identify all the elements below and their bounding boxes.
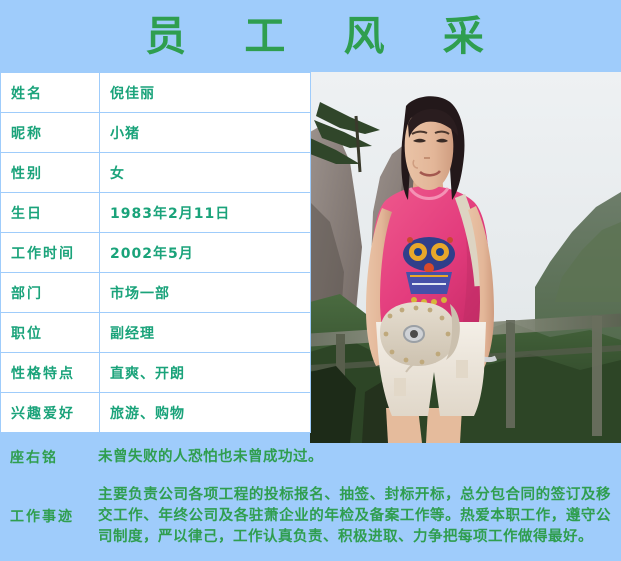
table-row: 部门 市场一部 xyxy=(1,273,311,313)
info-value-name: 倪佳丽 xyxy=(100,73,311,113)
motto-row: 座右铭 未曾失败的人恐怕也未曾成功过。 xyxy=(0,443,621,471)
info-label-start-date: 工作时间 xyxy=(1,233,100,273)
employee-info-table: 姓名 倪佳丽 昵称 小猪 性别 女 生日 1983年2月11日 工作时间 200… xyxy=(0,72,311,433)
bottom-section: 座右铭 未曾失败的人恐怕也未曾成功过。 工作事迹 主要负责公司各项工程的投标报名… xyxy=(0,443,621,561)
table-row: 兴趣爱好 旅游、购物 xyxy=(1,393,311,433)
employee-photo-graphic xyxy=(310,72,621,443)
info-value-start-date: 2002年5月 xyxy=(100,233,311,273)
info-label-department: 部门 xyxy=(1,273,100,313)
info-label-gender: 性别 xyxy=(1,153,100,193)
info-value-position: 副经理 xyxy=(100,313,311,353)
info-label-birthday: 生日 xyxy=(1,193,100,233)
info-value-birthday: 1983年2月11日 xyxy=(100,193,311,233)
table-row: 性格特点 直爽、开朗 xyxy=(1,353,311,393)
table-row: 职位 副经理 xyxy=(1,313,311,353)
employee-info-body: 姓名 倪佳丽 昵称 小猪 性别 女 生日 1983年2月11日 工作时间 200… xyxy=(1,73,311,433)
page-title: 员 工 风 采 xyxy=(115,16,506,57)
info-label-hobbies: 兴趣爱好 xyxy=(1,393,100,433)
info-value-department: 市场一部 xyxy=(100,273,311,313)
info-value-personality: 直爽、开朗 xyxy=(100,353,311,393)
info-label-personality: 性格特点 xyxy=(1,353,100,393)
motto-label: 座右铭 xyxy=(0,447,98,467)
info-value-gender: 女 xyxy=(100,153,311,193)
info-label-position: 职位 xyxy=(1,313,100,353)
info-label-nickname: 昵称 xyxy=(1,113,100,153)
deeds-label: 工作事迹 xyxy=(0,506,98,526)
table-row: 姓名 倪佳丽 xyxy=(1,73,311,113)
table-row: 性别 女 xyxy=(1,153,311,193)
motto-value: 未曾失败的人恐怕也未曾成功过。 xyxy=(98,448,621,466)
info-label-name: 姓名 xyxy=(1,73,100,113)
table-row: 生日 1983年2月11日 xyxy=(1,193,311,233)
page-title-bar: 员 工 风 采 xyxy=(0,0,621,72)
deeds-row: 工作事迹 主要负责公司各项工程的投标报名、抽签、封标开标，总分包合同的签订及移交… xyxy=(0,471,621,561)
info-value-nickname: 小猪 xyxy=(100,113,311,153)
deeds-value: 主要负责公司各项工程的投标报名、抽签、封标开标，总分包合同的签订及移交工作、年终… xyxy=(98,485,621,548)
info-value-hobbies: 旅游、购物 xyxy=(100,393,311,433)
table-row: 昵称 小猪 xyxy=(1,113,311,153)
employee-photo xyxy=(310,72,621,443)
table-row: 工作时间 2002年5月 xyxy=(1,233,311,273)
employee-profile-card: 员 工 风 采 xyxy=(0,0,621,561)
